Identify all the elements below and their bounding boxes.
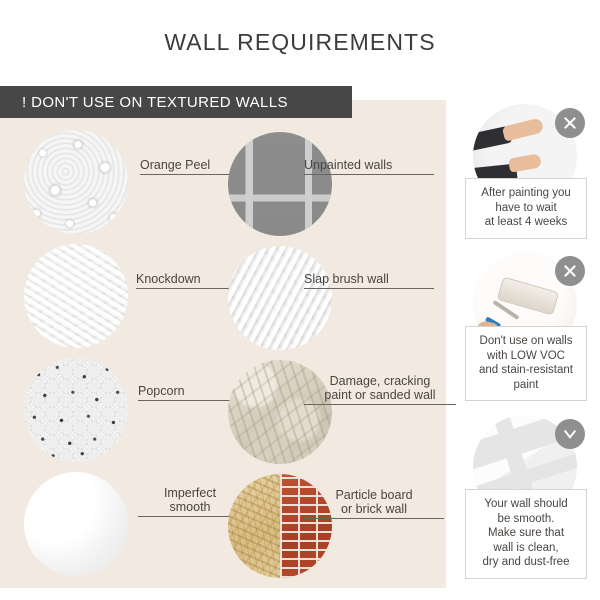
knockdown-texture-image [24, 244, 128, 348]
swatch-damage-cracking[interactable]: Damage, cracking paint or sanded wall [228, 360, 443, 464]
info-text-smooth-clean-wall: Your wall should be smooth. Make sure th… [465, 489, 587, 579]
swatch-label-particle-brick: Particle board or brick wall [304, 474, 444, 535]
x-badge-icon [555, 256, 585, 286]
swatch-particle-brick[interactable]: Particle board or brick wall [228, 474, 443, 578]
popcorn-texture-image [24, 358, 128, 462]
warning-banner-label: ! DON'T USE ON TEXTURED WALLS [22, 94, 288, 111]
swatch-label-orange-peel: Orange Peel [140, 144, 240, 191]
swatch-label-imperfect-smooth: Imperfect smooth [138, 472, 242, 533]
info-text-low-voc-paint: Don't use on walls with LOW VOC and stai… [465, 326, 587, 401]
swatch-label-knockdown: Knockdown [136, 258, 240, 305]
info-card-wait-4-weeks[interactable]: After painting you have to wait at least… [457, 104, 595, 234]
swatch-label-popcorn: Popcorn [138, 370, 242, 417]
swatch-knockdown[interactable]: Knockdown [24, 244, 244, 348]
swatch-imperfect-smooth[interactable]: Imperfect smooth [24, 472, 244, 576]
swatch-unpainted-walls[interactable]: Unpainted walls [228, 132, 443, 236]
check-badge-icon [555, 419, 585, 449]
particle-board-half [228, 474, 280, 578]
swatch-orange-peel[interactable]: Orange Peel [24, 130, 244, 234]
info-card-smooth-clean-wall[interactable]: Your wall should be smooth. Make sure th… [457, 415, 595, 580]
swatch-popcorn[interactable]: Popcorn [24, 358, 244, 462]
swatch-label-slap-brush-wall: Slap brush wall [304, 258, 434, 305]
info-card-low-voc-paint[interactable]: Don't use on walls with LOW VOC and stai… [457, 252, 595, 397]
orange-peel-texture-image [24, 130, 128, 234]
x-badge-icon [555, 108, 585, 138]
warning-banner: ! DON'T USE ON TEXTURED WALLS [0, 86, 352, 118]
info-text-wait-4-weeks: After painting you have to wait at least… [465, 178, 587, 239]
swatch-label-unpainted-walls: Unpainted walls [304, 144, 434, 191]
imperfect-smooth-texture-image [24, 472, 128, 576]
swatch-slap-brush-wall[interactable]: Slap brush wall [228, 246, 443, 350]
swatch-label-damage-cracking: Damage, cracking paint or sanded wall [304, 360, 456, 421]
page-title: WALL REQUIREMENTS [0, 29, 600, 56]
